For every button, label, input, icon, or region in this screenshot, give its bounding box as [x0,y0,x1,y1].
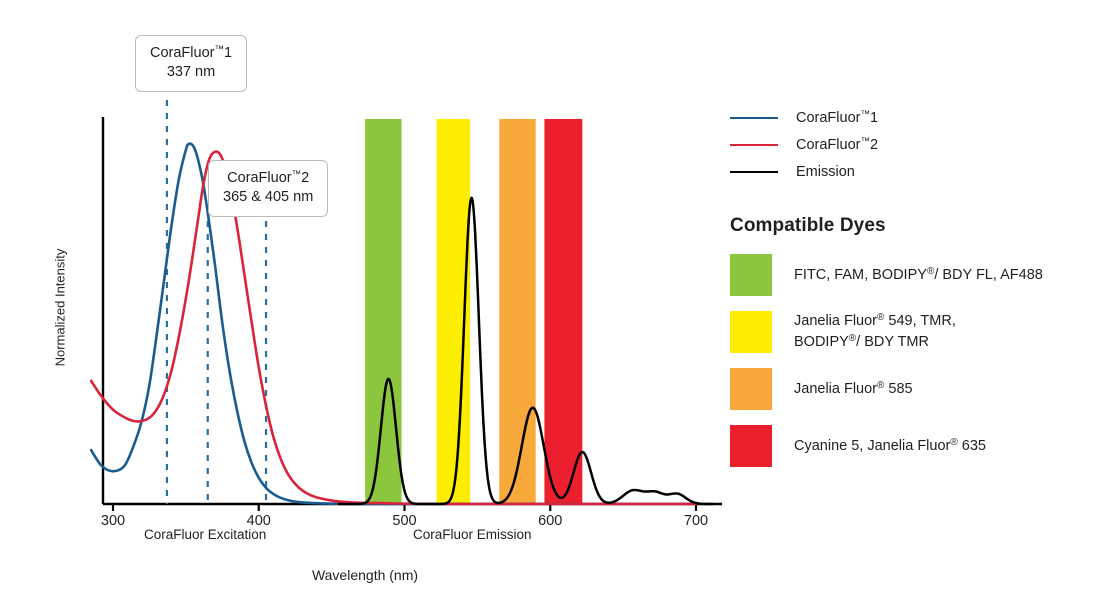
series-legend: CoraFluor™1 CoraFluor™2 Emission [730,104,1110,185]
legend: CoraFluor™1 CoraFluor™2 Emission Compati… [730,104,1110,482]
dye-row-3: Cyanine 5, Janelia Fluor® 635 [730,425,1110,467]
legend-line-corafluor1 [730,117,778,119]
callout-corafluor1-line1: CoraFluor™1 [150,44,232,63]
emission-range-label: CoraFluor Emission [413,527,532,542]
x-tick-label-700: 700 [684,513,708,529]
dye-label-3: Cyanine 5, Janelia Fluor® 635 [794,436,986,457]
legend-label-corafluor1: CoraFluor™1 [796,109,878,126]
callout-corafluor2-line2: 365 & 405 nm [223,188,313,207]
x-axis-label: Wavelength (nm) [0,567,730,583]
callout-corafluor1-line2: 337 nm [150,63,232,82]
dye-row-1: Janelia Fluor® 549, TMR,BODIPY®/ BDY TMR [730,311,1110,353]
legend-line-emission [730,171,778,173]
emission-band-0 [365,119,401,505]
emission-band-2 [499,119,535,505]
callout-corafluor1: CoraFluor™1 337 nm [135,35,247,92]
callout-corafluor2-line1: CoraFluor™2 [223,169,313,188]
dye-swatch-0 [730,254,772,296]
dye-row-2: Janelia Fluor® 585 [730,368,1110,410]
dye-swatch-3 [730,425,772,467]
dye-label-0: FITC, FAM, BODIPY®/ BDY FL, AF488 [794,265,1043,286]
legend-item-corafluor2: CoraFluor™2 [730,131,1110,158]
spectra-figure: Normalized Intensity Wavelength (nm) Cor… [0,0,1110,612]
legend-line-corafluor2 [730,144,778,146]
compatible-dyes-list: FITC, FAM, BODIPY®/ BDY FL, AF488Janelia… [730,254,1110,467]
dye-swatch-1 [730,311,772,353]
dye-label-2: Janelia Fluor® 585 [794,379,913,400]
dye-swatch-2 [730,368,772,410]
emission-band-3 [544,119,582,505]
x-tick-label-400: 400 [247,513,271,529]
callout-corafluor2: CoraFluor™2 365 & 405 nm [208,160,328,217]
y-axis-label: Normalized Intensity [53,208,68,408]
chart-plot-area: Normalized Intensity Wavelength (nm) Cor… [0,0,730,612]
legend-item-corafluor1: CoraFluor™1 [730,104,1110,131]
compatible-dyes-heading: Compatible Dyes [730,215,1110,237]
x-tick-label-300: 300 [101,513,125,529]
legend-item-emission: Emission [730,158,1110,185]
excitation-range-label: CoraFluor Excitation [144,527,266,542]
dye-label-1: Janelia Fluor® 549, TMR,BODIPY®/ BDY TMR [794,311,956,352]
dye-row-0: FITC, FAM, BODIPY®/ BDY FL, AF488 [730,254,1110,296]
legend-label-emission: Emission [796,164,855,180]
x-tick-label-600: 600 [538,513,562,529]
x-tick-label-500: 500 [392,513,416,529]
legend-label-corafluor2: CoraFluor™2 [796,136,878,153]
